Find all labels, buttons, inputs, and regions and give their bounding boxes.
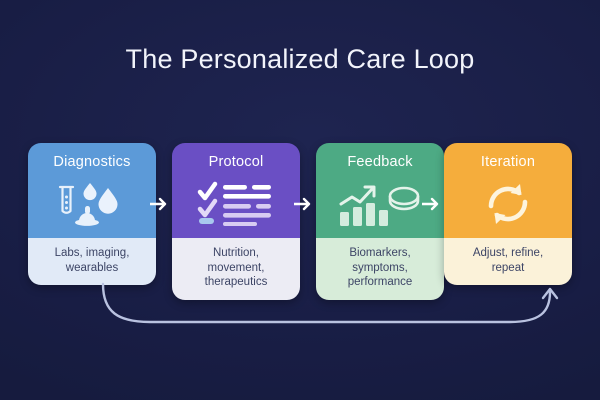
step-label-diagnostics: Diagnostics [28,154,156,170]
step-card-diagnostics[interactable]: Diagnostics [28,143,156,285]
refresh-loop-icon [444,180,572,228]
test-tube-droplet-microscope-icon [28,180,156,228]
diagram-canvas: The Personalized Care Loop Diagnostics [0,0,600,400]
checklist-icon [172,180,300,226]
step-label-protocol: Protocol [172,154,300,170]
step-card-feedback[interactable]: Feedback [316,143,444,300]
arrow-protocol-to-feedback [294,196,314,217]
step-description-diagnostics: Labs, imaging, wearables [55,246,130,275]
arrow-feedback-to-iteration [422,196,442,217]
card-header-diagnostics: Diagnostics [28,143,156,238]
step-card-protocol[interactable]: Protocol [172,143,300,300]
page-title: The Personalized Care Loop [0,44,600,75]
card-panel-protocol: Nutrition, movement, therapeutics [172,238,300,300]
step-description-protocol: Nutrition, movement, therapeutics [205,246,268,290]
arrow-diagnostics-to-protocol [150,196,170,217]
step-card-iteration[interactable]: Iteration Adjust, refine, repeat [444,143,572,285]
card-panel-iteration: Adjust, refine, repeat [444,238,572,285]
card-header-protocol: Protocol [172,143,300,238]
step-description-feedback: Biomarkers, symptoms, performance [348,246,413,290]
card-header-iteration: Iteration [444,143,572,238]
step-label-iteration: Iteration [444,154,572,170]
step-label-feedback: Feedback [316,154,444,170]
card-panel-diagnostics: Labs, imaging, wearables [28,238,156,285]
card-header-feedback: Feedback [316,143,444,238]
card-panel-feedback: Biomarkers, symptoms, performance [316,238,444,300]
step-description-iteration: Adjust, refine, repeat [473,246,543,275]
